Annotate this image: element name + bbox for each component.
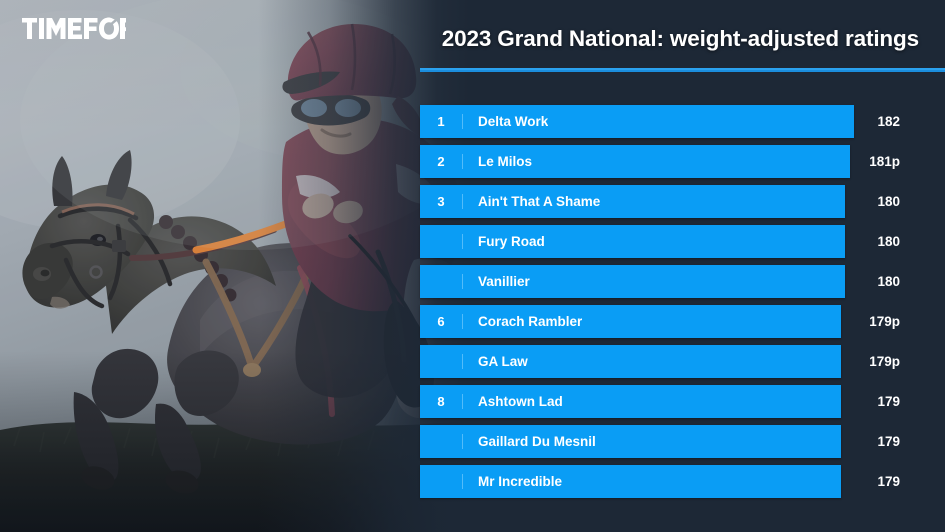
- horse-name-cell: Mr Incredible: [463, 465, 562, 498]
- rating-value-cell: 181p: [830, 145, 900, 178]
- rating-value-cell: 180: [830, 185, 900, 218]
- rating-value-cell: 179p: [830, 305, 900, 338]
- table-row: 2Le Milos181p: [404, 145, 945, 178]
- rating-bar: 2Le Milos: [420, 145, 850, 178]
- rating-bar: 8Ashtown Lad: [420, 385, 841, 418]
- rating-bar: Gaillard Du Mesnil: [420, 425, 841, 458]
- infographic-root: 2023 Grand National: weight-adjusted rat…: [0, 0, 945, 532]
- rank-name-divider: [462, 314, 463, 329]
- rating-bar: Fury Road: [420, 225, 845, 258]
- horse-name-cell: Gaillard Du Mesnil: [463, 425, 596, 458]
- rating-value-cell: 180: [830, 265, 900, 298]
- rank-name-divider: [462, 434, 463, 449]
- rating-value-cell: 179p: [830, 345, 900, 378]
- table-row: Mr Incredible179: [404, 465, 945, 498]
- rating-value-cell: 180: [830, 225, 900, 258]
- rating-bar: 1Delta Work: [420, 105, 854, 138]
- rank-name-divider: [462, 354, 463, 369]
- table-row: 8Ashtown Lad179: [404, 385, 945, 418]
- rank-cell: 8: [420, 385, 462, 418]
- hero-photo: [0, 0, 470, 532]
- rank-cell: 1: [420, 105, 462, 138]
- rank-name-divider: [462, 194, 463, 209]
- ratings-panel: 2023 Grand National: weight-adjusted rat…: [404, 0, 945, 532]
- rank-name-divider: [462, 154, 463, 169]
- table-row: GA Law179p: [404, 345, 945, 378]
- rating-value-cell: 182: [830, 105, 900, 138]
- rating-bar: Mr Incredible: [420, 465, 841, 498]
- rank-cell: 3: [420, 185, 462, 218]
- rank-name-divider: [462, 474, 463, 489]
- table-row: 3Ain't That A Shame180: [404, 185, 945, 218]
- rating-bar: 3Ain't That A Shame: [420, 185, 845, 218]
- rank-cell: 2: [420, 145, 462, 178]
- rank-name-divider: [462, 274, 463, 289]
- rating-value-cell: 179: [830, 465, 900, 498]
- horse-name-cell: Delta Work: [463, 105, 548, 138]
- table-row: 1Delta Work182: [404, 105, 945, 138]
- title-accent-highlight: [420, 68, 945, 70]
- horse-name-cell: Ashtown Lad: [463, 385, 563, 418]
- table-row: 6Corach Rambler179p: [404, 305, 945, 338]
- page-title: 2023 Grand National: weight-adjusted rat…: [442, 26, 919, 52]
- rating-value-cell: 179: [830, 425, 900, 458]
- horse-name-cell: GA Law: [463, 345, 528, 378]
- table-row: Fury Road180: [404, 225, 945, 258]
- table-row: Gaillard Du Mesnil179: [404, 425, 945, 458]
- rank-name-divider: [462, 234, 463, 249]
- rank-name-divider: [462, 114, 463, 129]
- rating-bar: GA Law: [420, 345, 841, 378]
- horse-name-cell: Vanillier: [463, 265, 530, 298]
- rank-cell: 6: [420, 305, 462, 338]
- ratings-list: 1Delta Work1822Le Milos181p3Ain't That A…: [404, 105, 945, 505]
- horse-name-cell: Fury Road: [463, 225, 545, 258]
- timeform-logo[interactable]: [22, 17, 126, 39]
- rating-bar: 6Corach Rambler: [420, 305, 841, 338]
- horse-name-cell: Corach Rambler: [463, 305, 582, 338]
- rating-value-cell: 179: [830, 385, 900, 418]
- horse-name-cell: Le Milos: [463, 145, 532, 178]
- rank-name-divider: [462, 394, 463, 409]
- timeform-wordmark-rm-icon: [22, 17, 126, 40]
- horse-name-cell: Ain't That A Shame: [463, 185, 600, 218]
- table-row: Vanillier180: [404, 265, 945, 298]
- rating-bar: Vanillier: [420, 265, 845, 298]
